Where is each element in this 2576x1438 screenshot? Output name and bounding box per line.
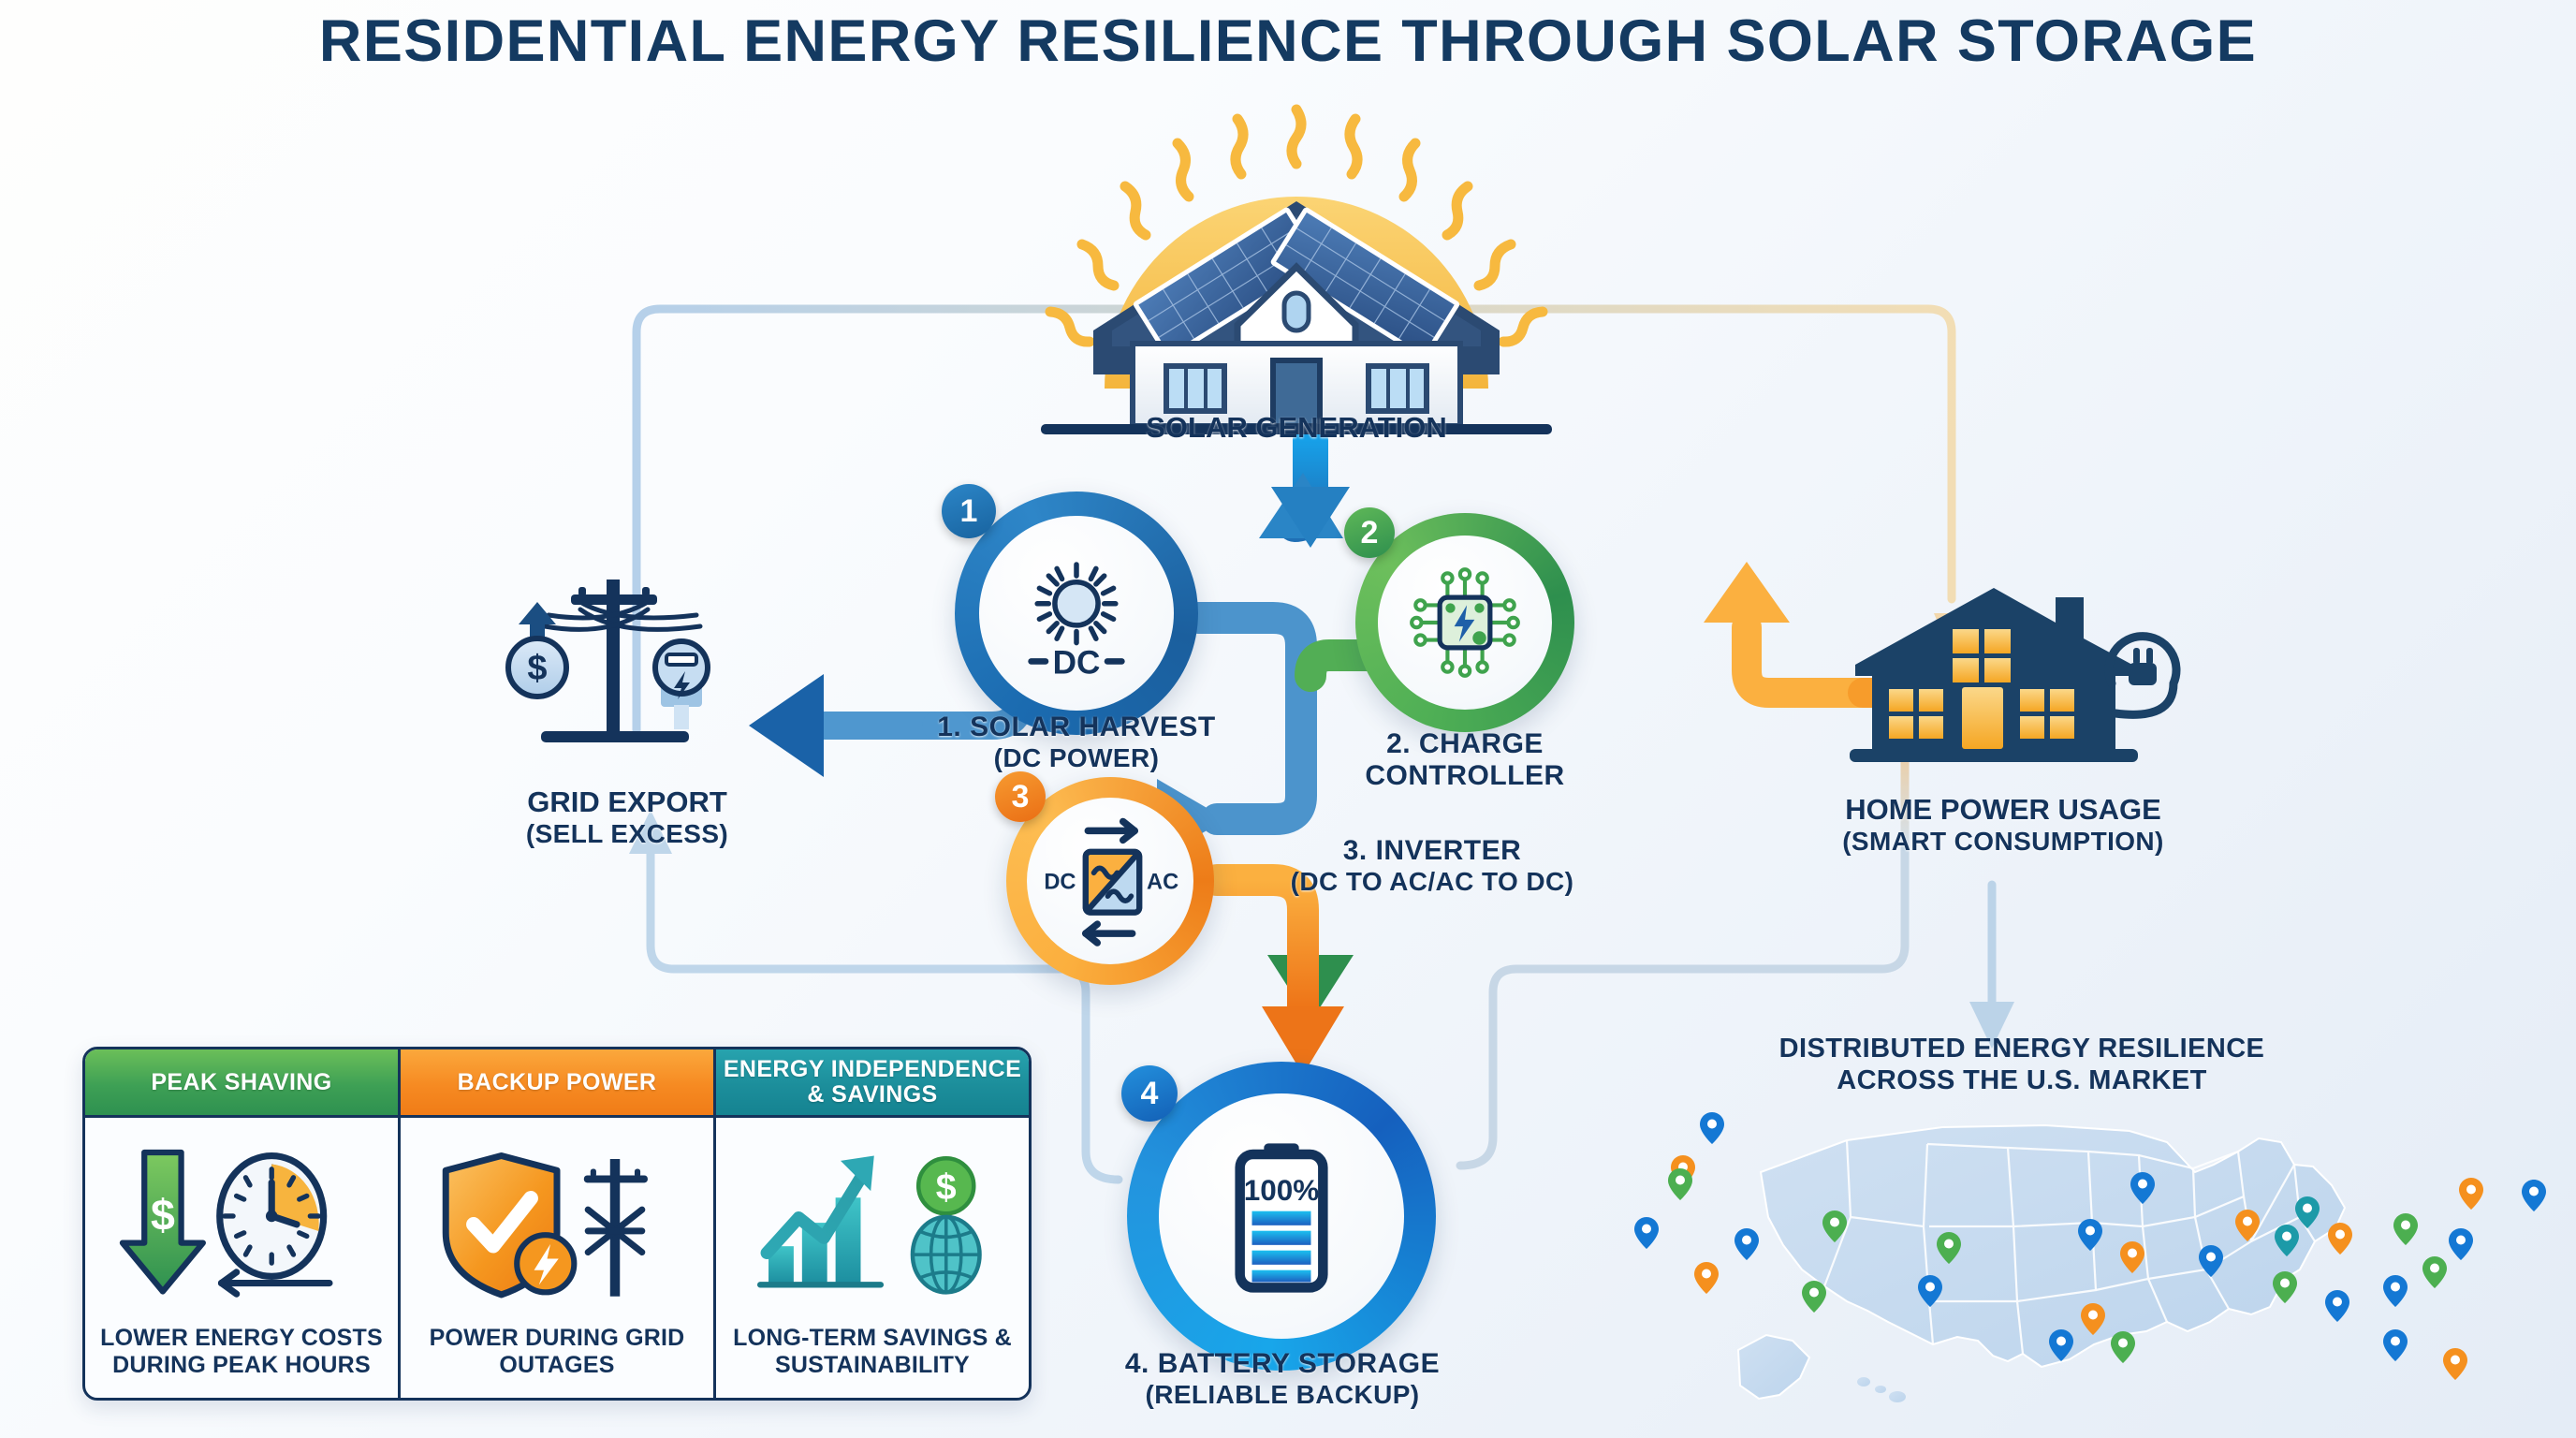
house-plug-icon <box>1807 571 2200 810</box>
grid-export-group: $ <box>468 566 777 782</box>
inverter-dc-ac-icon: DC AC <box>1034 805 1186 957</box>
node-2-badge: 2 <box>1344 507 1395 558</box>
map-pin <box>1918 1275 1942 1307</box>
map-pin <box>2235 1210 2260 1241</box>
sun-dc-icon: DC <box>1015 554 1138 678</box>
map-pin <box>2295 1196 2320 1228</box>
node-1-icon-text: DC <box>1053 645 1101 678</box>
benefit-icon-2: $ <box>716 1118 1029 1325</box>
node-2-title: 2. CHARGE <box>1310 728 1619 760</box>
node-4-subtitle: (RELIABLE BACKUP) <box>1086 1380 1479 1409</box>
map-pin <box>1802 1281 1826 1313</box>
benefit-column-energy-independence[interactable]: ENERGY INDEPENDENCE & SAVINGS <box>716 1049 1029 1398</box>
home-usage-title: HOME POWER USAGE <box>1750 794 2256 827</box>
node-2-face <box>1378 536 1552 710</box>
map-pin <box>2273 1271 2297 1303</box>
benefit-icon-1 <box>401 1118 713 1325</box>
node-3-icon-right-text: AC <box>1147 871 1178 895</box>
map-pin <box>2199 1245 2223 1277</box>
benefit-text-1: POWER DURING GRID OUTAGES <box>401 1325 713 1398</box>
benefit-header-1: BACKUP POWER <box>401 1049 713 1118</box>
node-4-label: 4. BATTERY STORAGE (RELIABLE BACKUP) <box>1086 1348 1479 1409</box>
benefit-header-2: ENERGY INDEPENDENCE & SAVINGS <box>716 1049 1029 1118</box>
grid-export-title: GRID EXPORT <box>440 786 814 819</box>
svg-text:$: $ <box>527 649 547 688</box>
benefits-panel: PEAK SHAVING $ <box>82 1047 1032 1401</box>
node-3-face: DC AC <box>1027 798 1193 964</box>
down-arrow-dollar-clock-icon: $ <box>115 1144 368 1303</box>
node-3-inverter[interactable]: DC AC 3 <box>1006 777 1214 985</box>
battery-icon: 100% <box>1216 1135 1347 1299</box>
map-pin <box>2130 1172 2155 1204</box>
home-usage-group <box>1807 571 2200 810</box>
map-pin <box>2422 1256 2447 1288</box>
map-pin <box>2049 1329 2073 1361</box>
map-pin <box>2275 1225 2299 1256</box>
home-usage-subtitle: (SMART CONSUMPTION) <box>1750 827 2256 856</box>
map-pin <box>2120 1241 2144 1273</box>
map-pin <box>2078 1219 2102 1251</box>
benefit-column-peak-shaving[interactable]: PEAK SHAVING $ <box>85 1049 401 1398</box>
node-2-subtitle: CONTROLLER <box>1310 760 1619 792</box>
map-pin <box>1668 1168 1692 1200</box>
node-4-icon-text: 100% <box>1244 1173 1320 1207</box>
node-1-face: DC <box>979 516 1174 711</box>
map-pin <box>1937 1232 1961 1264</box>
node-1-label: 1. SOLAR HARVEST (DC POWER) <box>899 712 1254 772</box>
node-3-subtitle: (DC TO AC/AC TO DC) <box>1245 867 1619 896</box>
node-1-subtitle: (DC POWER) <box>899 743 1254 772</box>
node-3-icon-left-text: DC <box>1044 871 1076 895</box>
map-pin <box>1634 1217 1659 1249</box>
benefit-text-0: LOWER ENERGY COSTS DURING PEAK HOURS <box>85 1325 398 1398</box>
map-pin <box>2393 1213 2418 1245</box>
benefit-text-2: LONG-TERM SAVINGS & SUSTAINABILITY <box>716 1325 1029 1398</box>
us-map <box>1591 1086 2537 1423</box>
map-pin <box>1734 1228 1759 1260</box>
node-1-badge: 1 <box>942 484 996 538</box>
home-usage-label: HOME POWER USAGE (SMART CONSUMPTION) <box>1750 794 2256 856</box>
benefit-header-0: PEAK SHAVING <box>85 1049 398 1118</box>
map-pin <box>2081 1303 2105 1335</box>
svg-text:$: $ <box>936 1167 957 1208</box>
house-with-solar-panels-and-sun-icon <box>992 89 1601 454</box>
map-pin <box>2111 1331 2135 1363</box>
map-pin <box>2383 1329 2408 1361</box>
node-2-label: 2. CHARGE CONTROLLER <box>1310 728 1619 791</box>
node-4-face: 100% <box>1159 1093 1404 1339</box>
map-pin <box>2328 1223 2352 1255</box>
map-pin-layer <box>1591 1086 2537 1423</box>
map-pin <box>2383 1275 2408 1307</box>
node-4-badge: 4 <box>1121 1065 1178 1122</box>
benefit-column-backup-power[interactable]: BACKUP POWER <box>401 1049 716 1398</box>
map-pin <box>2459 1178 2483 1210</box>
node-3-label: 3. INVERTER (DC TO AC/AC TO DC) <box>1245 835 1619 896</box>
map-pin <box>1700 1112 1724 1144</box>
node-2-charge-controller[interactable]: 2 <box>1355 513 1574 732</box>
shield-check-bolt-pole-icon <box>434 1144 680 1303</box>
map-pin <box>1822 1211 1847 1242</box>
map-pin <box>2449 1228 2473 1260</box>
benefit-icon-0: $ <box>85 1118 398 1325</box>
microchip-bolt-icon <box>1407 565 1523 681</box>
solar-generation-group <box>992 89 1601 454</box>
node-4-title: 4. BATTERY STORAGE <box>1086 1348 1479 1380</box>
node-4-battery-storage[interactable]: 100% 4 <box>1127 1062 1436 1371</box>
utility-pole-dollar-meter-icon: $ <box>468 566 777 782</box>
node-3-badge: 3 <box>995 771 1046 822</box>
svg-text:$: $ <box>151 1190 175 1239</box>
map-pin <box>2325 1290 2349 1322</box>
grid-export-subtitle: (SELL EXCESS) <box>440 819 814 848</box>
growth-chart-dollar-globe-icon: $ <box>746 1144 999 1303</box>
node-3-title: 3. INVERTER <box>1245 835 1619 867</box>
map-pin <box>2522 1180 2546 1211</box>
node-1-solar-harvest[interactable]: DC 1 <box>955 492 1198 735</box>
solar-generation-label: SOLAR GENERATION <box>992 412 1601 445</box>
map-pin <box>1694 1262 1719 1294</box>
node-1-title: 1. SOLAR HARVEST <box>899 712 1254 743</box>
grid-export-label: GRID EXPORT (SELL EXCESS) <box>440 786 814 848</box>
map-pin <box>2443 1348 2467 1380</box>
